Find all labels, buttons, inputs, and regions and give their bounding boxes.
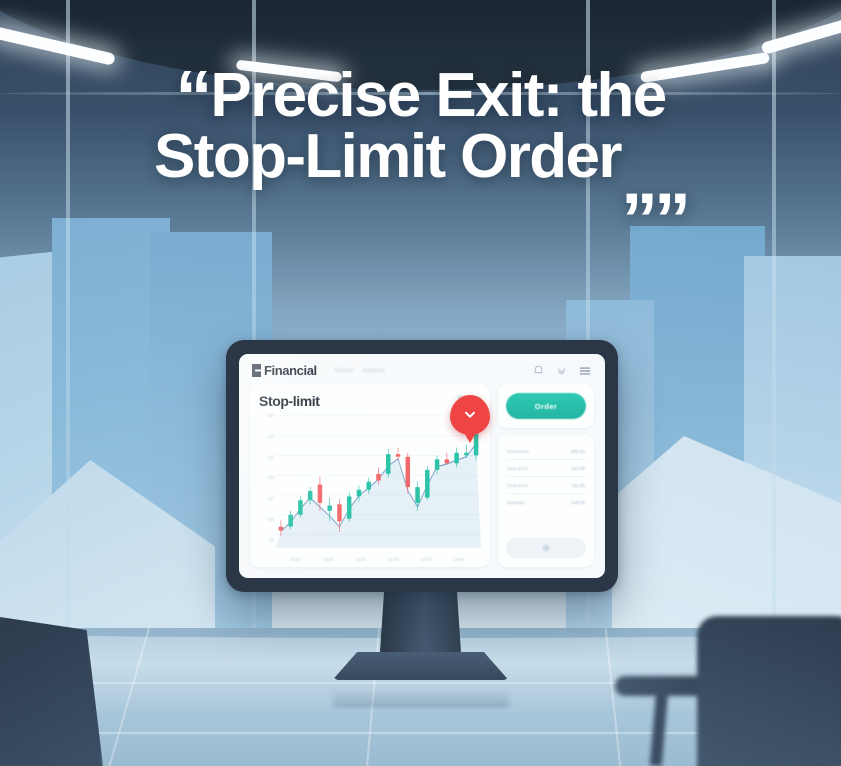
- order-detail-value-3: 100.00: [571, 500, 585, 505]
- financial-logo-mark-icon: [252, 364, 261, 377]
- stop-limit-marker-pin[interactable]: [450, 395, 490, 435]
- order-detail-value-1: 110.00: [571, 466, 585, 471]
- floor-line: [605, 628, 622, 766]
- screen: Financial Markets Analytics: [239, 354, 605, 578]
- app-nav: Markets Analytics: [335, 368, 385, 374]
- order-detail-row: Quantity100.00: [506, 494, 586, 510]
- nav-item-analytics[interactable]: Analytics: [363, 368, 385, 374]
- order-sidebar: Order Instrument000.00Stop price110.00Li…: [498, 384, 594, 567]
- y-axis: 18016515013512010590: [259, 411, 276, 555]
- sidebar-footer-button[interactable]: [506, 538, 586, 558]
- y-axis-tick-2: 150: [259, 455, 276, 460]
- order-detail-row: Stop price110.00: [506, 460, 586, 477]
- download-arrow-icon[interactable]: [555, 364, 568, 377]
- x-axis-tick-0: 09:00: [290, 557, 300, 562]
- diamond-icon: [542, 544, 550, 552]
- header-icons: [532, 364, 592, 378]
- monitor-stand-base: [333, 652, 509, 680]
- chart-title: Stop-limit: [259, 393, 320, 409]
- close-quote-mark: „„: [621, 136, 687, 219]
- monitor-reflection: [333, 688, 509, 708]
- y-axis-tick-6: 90: [259, 538, 276, 543]
- floor-line: [108, 628, 150, 766]
- candlestick-plot[interactable]: [276, 411, 481, 555]
- y-axis-tick-3: 135: [259, 475, 276, 480]
- order-detail-row: Limit price111.00: [506, 477, 586, 494]
- y-axis-tick-4: 120: [259, 496, 276, 501]
- order-detail-label-2: Limit price: [507, 483, 528, 488]
- y-axis-tick-0: 180: [259, 413, 276, 418]
- order-details-list: Instrument000.00Stop price110.00Limit pr…: [506, 443, 586, 510]
- monitor-stand-neck: [380, 586, 462, 660]
- office-chair-right: [697, 616, 841, 766]
- x-axis-tick-1: 10:00: [323, 557, 333, 562]
- x-axis-tick-5: 14:00: [453, 557, 463, 562]
- order-detail-row: Instrument000.00: [506, 443, 586, 460]
- page-title: “Precise Exit: the Stop-Limit Order„„: [0, 66, 841, 188]
- y-axis-tick-1: 165: [259, 434, 276, 439]
- order-detail-label-3: Quantity: [507, 500, 524, 505]
- order-detail-label-1: Stop price: [507, 466, 528, 471]
- app-header: Financial Markets Analytics: [239, 354, 605, 384]
- x-axis-tick-3: 12:00: [388, 557, 398, 562]
- chevron-down-icon: [462, 407, 478, 423]
- app-logo-text: Financial: [264, 363, 317, 378]
- office-scene: “Precise Exit: the Stop-Limit Order„„ Fi…: [0, 0, 841, 766]
- order-detail-value-2: 111.00: [572, 483, 585, 488]
- chart-header: Stop-limit Overview: [259, 393, 481, 409]
- bell-icon[interactable]: [532, 364, 545, 377]
- plot-area: 18016515013512010590: [259, 411, 481, 555]
- monitor: Financial Markets Analytics: [226, 340, 618, 592]
- headline-line-2: Stop-Limit Order: [154, 122, 621, 191]
- order-detail-label-0: Instrument: [507, 449, 529, 454]
- x-axis-tick-4: 13:00: [421, 557, 431, 562]
- y-axis-tick-5: 105: [259, 517, 276, 522]
- order-action-card: Order: [498, 384, 594, 428]
- order-detail-value-0: 000.00: [571, 449, 585, 454]
- nav-item-markets[interactable]: Markets: [335, 368, 354, 374]
- x-axis-tick-2: 11:00: [356, 557, 366, 562]
- headline-line-1: Precise Exit: the: [210, 61, 665, 130]
- order-details-card: Instrument000.00Stop price110.00Limit pr…: [498, 435, 594, 567]
- chart-panel: Stop-limit Overview 18016515013512010590: [250, 384, 490, 567]
- order-button[interactable]: Order: [506, 393, 586, 419]
- hamburger-menu-icon[interactable]: [578, 364, 592, 378]
- x-axis: 09:0010:0011:0012:0013:0014:00: [259, 555, 481, 562]
- app-body: Stop-limit Overview 18016515013512010590: [239, 384, 605, 578]
- app-logo[interactable]: Financial: [252, 363, 317, 378]
